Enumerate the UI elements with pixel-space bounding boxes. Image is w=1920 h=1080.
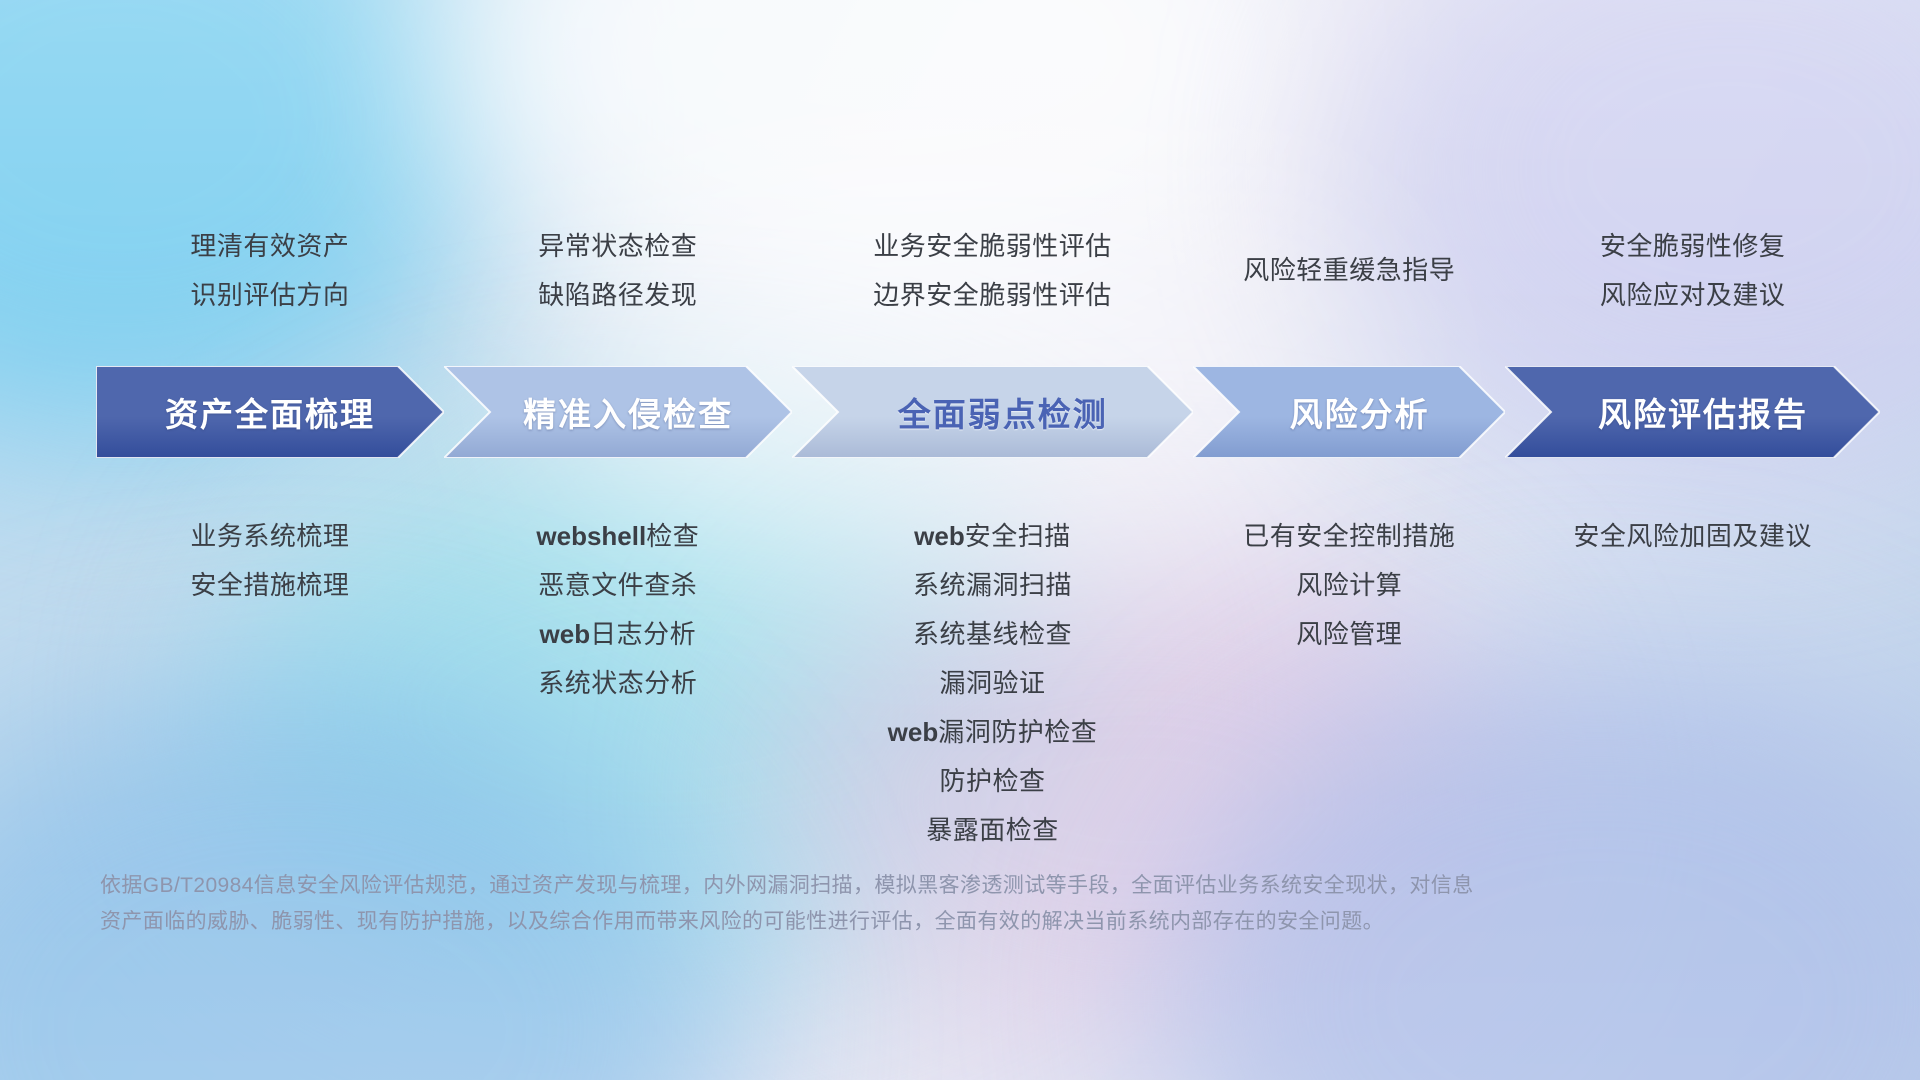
stage-intrusion-check-top-note-1: 异常状态检查	[444, 222, 792, 271]
footer-line-2: 资产面临的威胁、脆弱性、现有防护措施，以及综合作用而带来风险的可能性进行评估，全…	[100, 904, 1660, 940]
stage-risk-analysis-detail-item: 已有安全控制措施	[1193, 512, 1505, 561]
stage-risk-analysis-top-notes: 风险轻重缓急指导	[1193, 222, 1505, 295]
stage-asset-inventory-detail-list: 业务系统梳理安全措施梳理	[96, 512, 444, 610]
stage-weakness-detection-detail-list: web安全扫描系统漏洞扫描系统基线检查漏洞验证web漏洞防护检查防护检查暴露面检…	[792, 512, 1193, 855]
stage-intrusion-check-label: 精准入侵检查	[523, 388, 733, 436]
latin-token: webshell	[536, 521, 646, 551]
stage-intrusion-check-top-notes: 异常状态检查缺陷路径发现	[444, 222, 792, 320]
footer-description: 依据GB/T20984信息安全风险评估规范，通过资产发现与梳理，内外网漏洞扫描，…	[100, 868, 1660, 940]
stage-risk-report-top-note-2: 风险应对及建议	[1505, 271, 1880, 320]
stage-weakness-detection-detail-item: web安全扫描	[792, 512, 1193, 561]
stage-weakness-detection-top-note-1: 业务安全脆弱性评估	[792, 222, 1193, 271]
stage-chevron-band: 资产全面梳理 精准入侵检查 全面弱点检测	[96, 366, 1880, 458]
stage-asset-inventory-chevron[interactable]: 资产全面梳理	[96, 366, 444, 458]
stage-weakness-detection-detail-item: web漏洞防护检查	[792, 708, 1193, 757]
stage-intrusion-check-detail-item: 系统状态分析	[444, 659, 792, 708]
stage-asset-inventory-label: 资产全面梳理	[165, 388, 375, 436]
stage-risk-analysis-chevron[interactable]: 风险分析	[1193, 366, 1505, 458]
stage-weakness-detection-chevron[interactable]: 全面弱点检测	[792, 366, 1193, 458]
latin-token: web	[888, 717, 939, 747]
stage-weakness-detection-detail-item: 系统基线检查	[792, 610, 1193, 659]
stage-weakness-detection-detail-item: 漏洞验证	[792, 659, 1193, 708]
footer-line-1: 依据GB/T20984信息安全风险评估规范，通过资产发现与梳理，内外网漏洞扫描，…	[100, 868, 1660, 904]
stage-intrusion-check-detail-item: 恶意文件查杀	[444, 561, 792, 610]
latin-token: web	[540, 619, 591, 649]
stage-risk-report-detail-list: 安全风险加固及建议	[1505, 512, 1880, 561]
top-notes-row: 理清有效资产识别评估方向异常状态检查缺陷路径发现业务安全脆弱性评估边界安全脆弱性…	[96, 222, 1880, 314]
stage-risk-analysis-label: 风险分析	[1290, 388, 1430, 436]
stage-asset-inventory-detail-item: 业务系统梳理	[96, 512, 444, 561]
latin-token: web	[914, 521, 965, 551]
stage-weakness-detection-detail-item: 防护检查	[792, 757, 1193, 806]
stage-risk-report-top-notes: 安全脆弱性修复风险应对及建议	[1505, 222, 1880, 320]
stage-asset-inventory-top-note-2: 识别评估方向	[96, 271, 444, 320]
stage-intrusion-check-top-note-2: 缺陷路径发现	[444, 271, 792, 320]
stage-intrusion-check-chevron[interactable]: 精准入侵检查	[444, 366, 792, 458]
stage-weakness-detection-top-notes: 业务安全脆弱性评估边界安全脆弱性评估	[792, 222, 1193, 320]
stage-risk-analysis-detail-list: 已有安全控制措施风险计算风险管理	[1193, 512, 1505, 659]
stage-weakness-detection-label: 全面弱点检测	[898, 388, 1108, 436]
stage-asset-inventory-top-note-1: 理清有效资产	[96, 222, 444, 271]
bottom-details-row: 业务系统梳理安全措施梳理webshell检查恶意文件查杀web日志分析系统状态分…	[96, 512, 1880, 855]
process-flow-diagram: 理清有效资产识别评估方向异常状态检查缺陷路径发现业务安全脆弱性评估边界安全脆弱性…	[0, 0, 1920, 1080]
stage-intrusion-check-detail-list: webshell检查恶意文件查杀web日志分析系统状态分析	[444, 512, 792, 708]
stage-weakness-detection-detail-item: 系统漏洞扫描	[792, 561, 1193, 610]
stage-risk-analysis-detail-item: 风险计算	[1193, 561, 1505, 610]
stage-intrusion-check-detail-item: webshell检查	[444, 512, 792, 561]
stage-risk-report-chevron[interactable]: 风险评估报告	[1505, 366, 1880, 458]
stage-weakness-detection-top-note-2: 边界安全脆弱性评估	[792, 271, 1193, 320]
stage-asset-inventory-top-notes: 理清有效资产识别评估方向	[96, 222, 444, 320]
stage-asset-inventory-detail-item: 安全措施梳理	[96, 561, 444, 610]
stage-risk-report-top-note-1: 安全脆弱性修复	[1505, 222, 1880, 271]
stage-risk-report-label: 风险评估报告	[1598, 388, 1808, 436]
stage-weakness-detection-detail-item: 暴露面检查	[792, 806, 1193, 855]
stage-intrusion-check-detail-item: web日志分析	[444, 610, 792, 659]
stage-risk-analysis-detail-item: 风险管理	[1193, 610, 1505, 659]
stage-risk-analysis-top-note-1: 风险轻重缓急指导	[1193, 246, 1505, 295]
stage-risk-report-detail-item: 安全风险加固及建议	[1505, 512, 1880, 561]
